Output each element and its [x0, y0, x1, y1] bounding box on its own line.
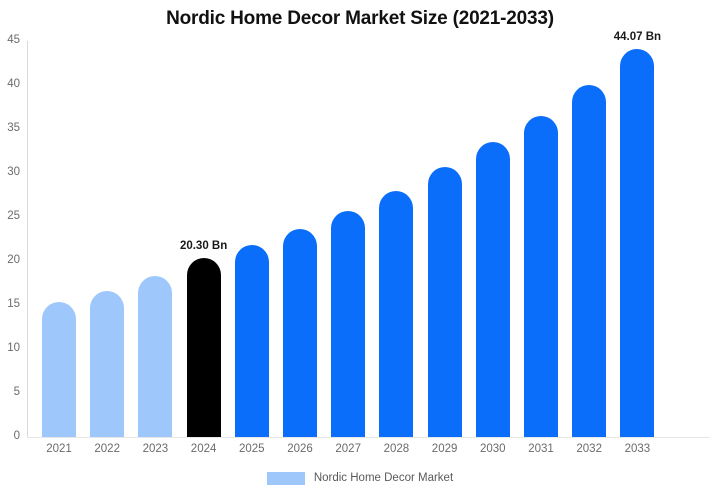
bar-2027[interactable] [331, 41, 365, 437]
bar-2029[interactable] [428, 41, 462, 437]
y-axis-tick-labels: 051015202530354045 [0, 41, 20, 437]
bar-2031[interactable] [524, 41, 558, 437]
chart-title: Nordic Home Decor Market Size (2021-2033… [0, 8, 720, 30]
y-axis-tick-0: 0 [0, 431, 20, 443]
bar-rect-2028[interactable] [379, 191, 413, 437]
bar-rect-2029[interactable] [428, 167, 462, 437]
bar-rect-2030[interactable] [476, 142, 510, 437]
x-axis-line [27, 437, 710, 438]
bar-2024[interactable]: 20.30 Bn [187, 41, 221, 437]
y-axis-tick-35: 35 [0, 123, 20, 135]
bar-rect-2033[interactable] [620, 49, 654, 437]
bar-rect-2023[interactable] [138, 276, 172, 437]
y-axis-tick-30: 30 [0, 167, 20, 179]
bar-rect-2021[interactable] [42, 302, 76, 437]
y-axis-tick-45: 45 [0, 35, 20, 47]
y-axis-tick-10: 10 [0, 343, 20, 355]
bar-2025[interactable] [235, 41, 269, 437]
bar-chart: Nordic Home Decor Market Size (2021-2033… [0, 0, 720, 500]
bar-2023[interactable] [138, 41, 172, 437]
bar-rect-2032[interactable] [572, 85, 606, 437]
y-axis-tick-5: 5 [0, 387, 20, 399]
bar-rect-2027[interactable] [331, 211, 365, 437]
bar-2022[interactable] [90, 41, 124, 437]
y-axis-line [27, 41, 28, 437]
bar-2032[interactable] [572, 41, 606, 437]
y-axis-tick-25: 25 [0, 211, 20, 223]
bar-value-label-2024: 20.30 Bn [180, 240, 227, 252]
chart-legend: Nordic Home Decor Market [0, 472, 720, 485]
legend-label-nordic-home-decor-market: Nordic Home Decor Market [314, 473, 453, 485]
bar-2026[interactable] [283, 41, 317, 437]
y-axis-tick-15: 15 [0, 299, 20, 311]
y-axis-tick-20: 20 [0, 255, 20, 267]
bar-2033[interactable]: 44.07 Bn [620, 41, 654, 437]
bar-2030[interactable] [476, 41, 510, 437]
legend-swatch-nordic-home-decor-market [267, 472, 305, 485]
plot-area: 20.30 Bn44.07 Bn [27, 41, 710, 437]
bar-rect-2031[interactable] [524, 116, 558, 437]
bar-rect-2025[interactable] [235, 245, 269, 437]
bar-rect-2024[interactable] [187, 258, 221, 437]
y-axis-tick-40: 40 [0, 79, 20, 91]
bar-rect-2026[interactable] [283, 229, 317, 437]
x-axis-tick-2033: 2033 [607, 444, 667, 456]
bar-2021[interactable] [42, 41, 76, 437]
bar-rect-2022[interactable] [90, 291, 124, 437]
bar-value-label-2033: 44.07 Bn [614, 31, 661, 43]
bar-2028[interactable] [379, 41, 413, 437]
